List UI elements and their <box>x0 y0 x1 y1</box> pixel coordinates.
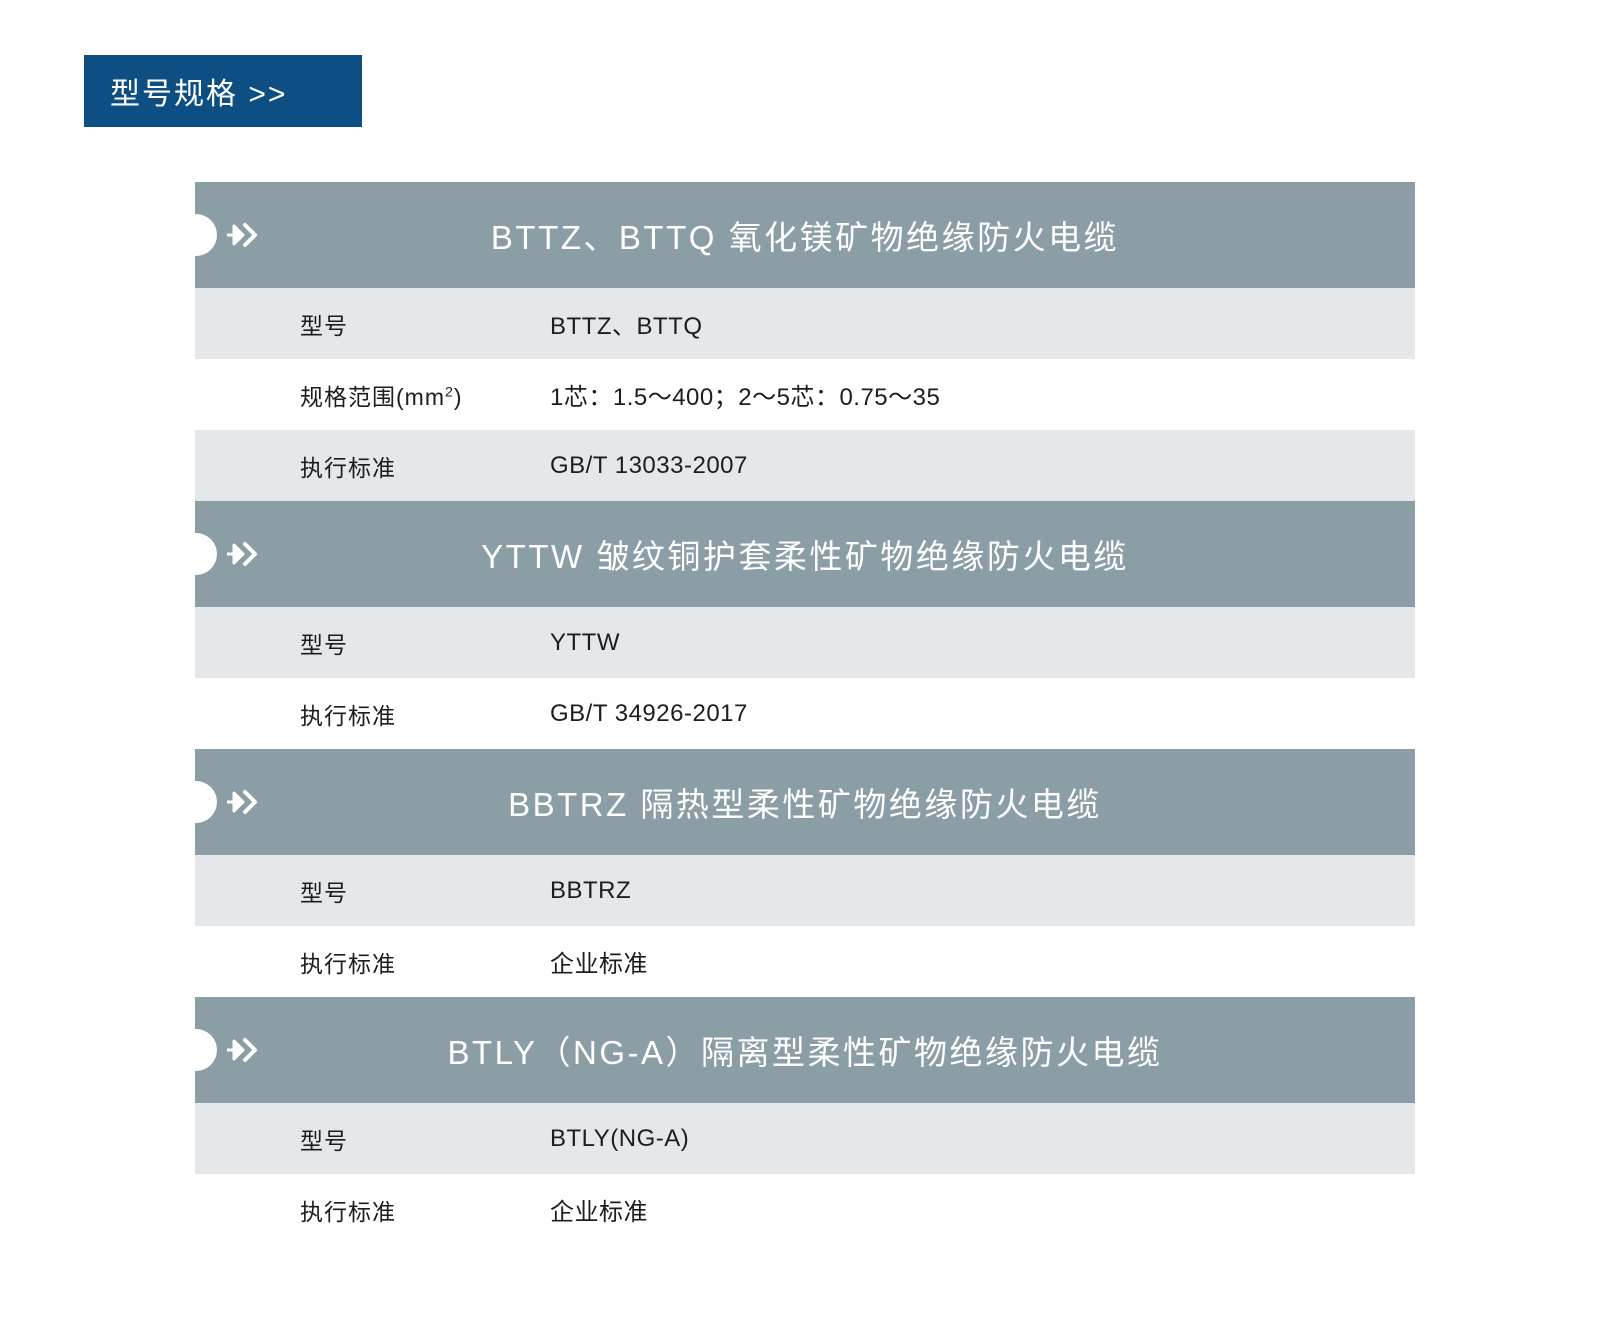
section-header[interactable]: BTLY（NG-A）隔离型柔性矿物绝缘防火电缆 <box>195 997 1415 1103</box>
section-title: BTLY（NG-A）隔离型柔性矿物绝缘防火电缆 <box>377 1026 1232 1074</box>
spec-row: 执行标准 GB/T 34926-2017 <box>195 678 1415 749</box>
section-header[interactable]: BBTRZ 隔热型柔性矿物绝缘防火电缆 <box>195 749 1415 855</box>
spec-value: GB/T 34926-2017 <box>550 700 748 728</box>
circle-bullet-icon <box>195 214 217 256</box>
double-arrow-icon <box>225 1033 259 1067</box>
spec-label: 执行标准 <box>195 945 550 979</box>
circle-bullet-icon <box>195 1029 217 1071</box>
section-title: BBTRZ 隔热型柔性矿物绝缘防火电缆 <box>438 778 1172 826</box>
spec-row: 型号 YTTW <box>195 607 1415 678</box>
spec-row: 型号 BTTZ、BTTQ <box>195 288 1415 359</box>
spec-value: GB/T 13033-2007 <box>550 452 748 480</box>
spec-section: BTLY（NG-A）隔离型柔性矿物绝缘防火电缆 型号 BTLY(NG-A) 执行… <box>195 997 1415 1245</box>
spec-value: YTTW <box>550 629 620 657</box>
spec-label: 执行标准 <box>195 697 550 731</box>
double-arrow-icon <box>225 218 259 252</box>
section-header[interactable]: YTTW 皱纹铜护套柔性矿物绝缘防火电缆 <box>195 501 1415 607</box>
section-title: YTTW 皱纹铜护套柔性矿物绝缘防火电缆 <box>411 530 1199 578</box>
spec-label: 执行标准 <box>195 449 550 483</box>
spec-label: 规格范围(mm2) <box>195 378 550 412</box>
spec-section: BTTZ、BTTQ 氧化镁矿物绝缘防火电缆 型号 BTTZ、BTTQ 规格范围(… <box>195 182 1415 501</box>
spec-row: 执行标准 GB/T 13033-2007 <box>195 430 1415 501</box>
spec-label: 型号 <box>195 626 550 660</box>
spec-badge[interactable]: 型号规格 >> <box>84 55 362 127</box>
spec-row: 型号 BTLY(NG-A) <box>195 1103 1415 1174</box>
circle-bullet-icon <box>195 781 217 823</box>
spec-label-main: 规格范围(mm <box>300 384 445 410</box>
spec-label-tail: ) <box>454 384 463 410</box>
spec-value: BTTZ、BTTQ <box>550 306 702 341</box>
spec-value: 1芯：1.5～400；2～5芯：0.75～35 <box>550 377 940 412</box>
spec-label: 型号 <box>195 307 550 341</box>
section-header[interactable]: BTTZ、BTTQ 氧化镁矿物绝缘防火电缆 <box>195 182 1415 288</box>
spec-label: 执行标准 <box>195 1193 550 1227</box>
spec-label: 型号 <box>195 1122 550 1156</box>
double-arrow-icon <box>225 537 259 571</box>
spec-row: 规格范围(mm2) 1芯：1.5～400；2～5芯：0.75～35 <box>195 359 1415 430</box>
spec-panel: BTTZ、BTTQ 氧化镁矿物绝缘防火电缆 型号 BTTZ、BTTQ 规格范围(… <box>195 182 1415 1245</box>
spec-label: 型号 <box>195 874 550 908</box>
spec-label-superscript: 2 <box>445 384 454 400</box>
spec-row: 执行标准 企业标准 <box>195 926 1415 997</box>
spec-value: BTLY(NG-A) <box>550 1125 689 1153</box>
double-arrow-icon <box>225 785 259 819</box>
spec-value: 企业标准 <box>550 944 648 979</box>
spec-section: YTTW 皱纹铜护套柔性矿物绝缘防火电缆 型号 YTTW 执行标准 GB/T 3… <box>195 501 1415 749</box>
spec-value: BBTRZ <box>550 877 631 905</box>
spec-section: BBTRZ 隔热型柔性矿物绝缘防火电缆 型号 BBTRZ 执行标准 企业标准 <box>195 749 1415 997</box>
spec-value: 企业标准 <box>550 1192 648 1227</box>
section-title: BTTZ、BTTQ 氧化镁矿物绝缘防火电缆 <box>421 211 1189 259</box>
circle-bullet-icon <box>195 533 217 575</box>
spec-row: 型号 BBTRZ <box>195 855 1415 926</box>
spec-badge-label: 型号规格 >> <box>84 69 287 113</box>
spec-row: 执行标准 企业标准 <box>195 1174 1415 1245</box>
